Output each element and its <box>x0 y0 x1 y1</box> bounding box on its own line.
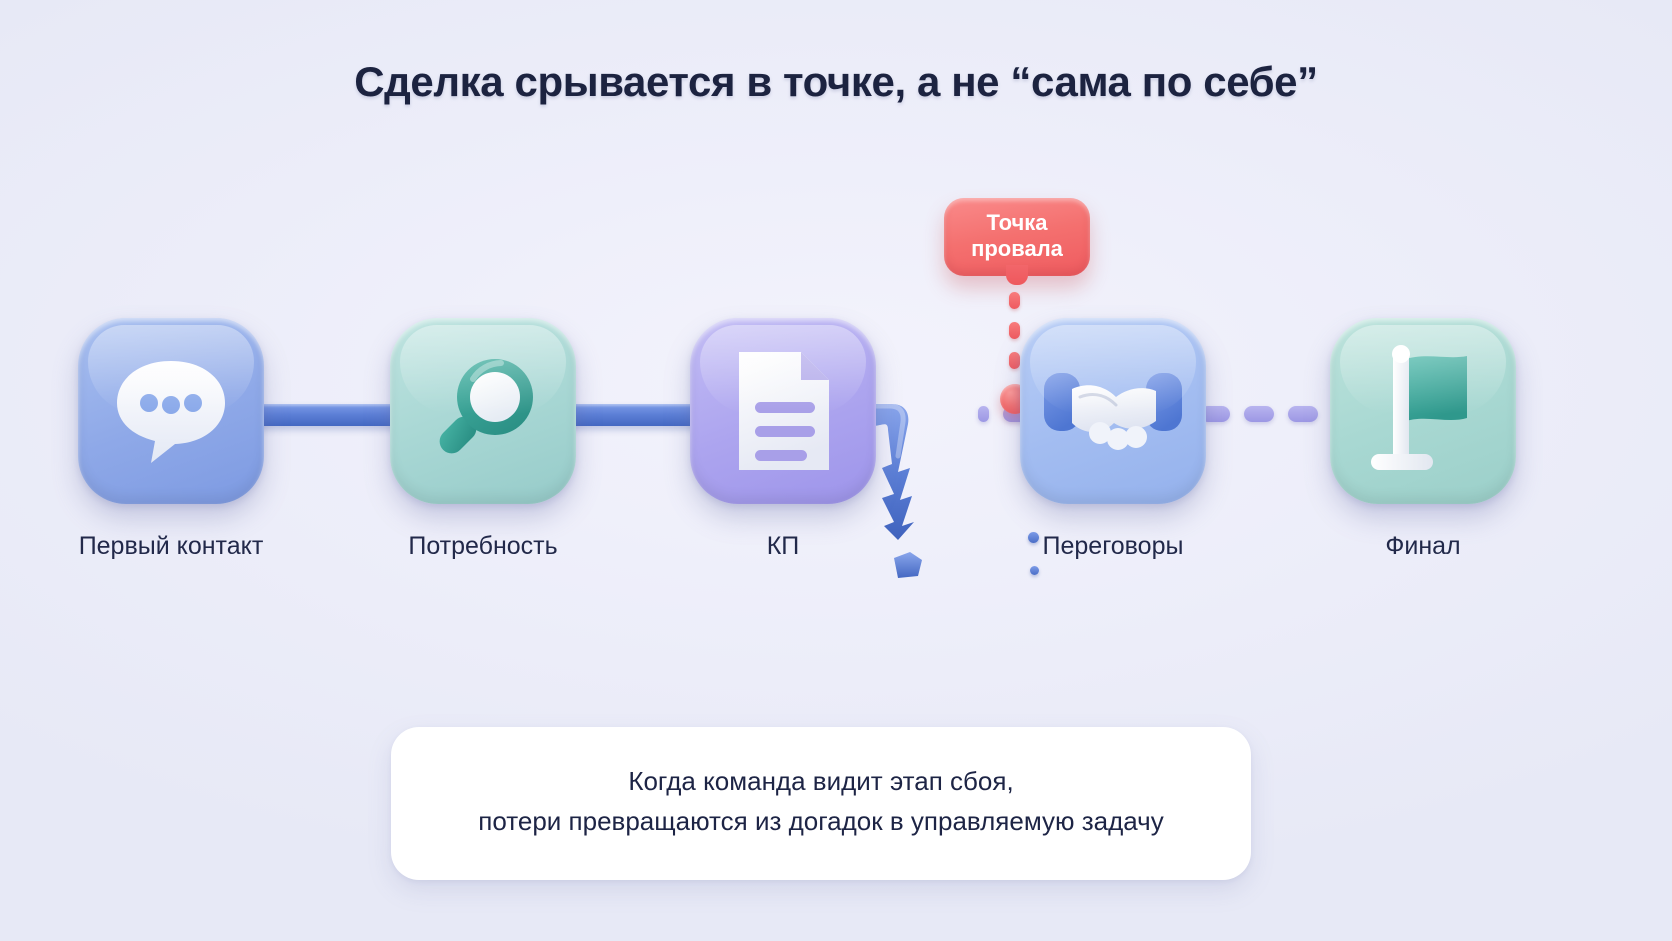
stage-label: Первый контакт <box>78 532 264 561</box>
badge-tail <box>1006 265 1028 285</box>
caption-line-1: Когда команда видит этап сбоя, <box>431 761 1211 801</box>
badge-line-1: Точка <box>954 210 1080 236</box>
stage-tile <box>690 318 876 504</box>
stage-tile <box>1330 318 1516 504</box>
badge-pointer-dash <box>1009 352 1020 369</box>
dash-segment <box>1244 406 1274 422</box>
infographic-canvas: Сделка срывается в точке, а не “сама по … <box>0 0 1672 941</box>
connector-dashed-segment-b <box>1200 405 1328 423</box>
stage-need[interactable]: Потребность <box>390 318 576 561</box>
badge-pointer-dash <box>1009 322 1020 339</box>
chat-bubble-icon <box>111 355 231 467</box>
badge-line-2: провала <box>954 236 1080 262</box>
stage-proposal[interactable]: КП <box>690 318 876 561</box>
stage-first-contact[interactable]: Первый контакт <box>78 318 264 561</box>
stage-tile <box>390 318 576 504</box>
handshake-icon <box>1044 359 1182 463</box>
caption-line-2: потери превращаются из догадок в управля… <box>431 801 1211 841</box>
stage-label: Потребность <box>390 532 576 561</box>
caption-card: Когда команда видит этап сбоя, потери пр… <box>391 727 1251 880</box>
connector-contact-to-need <box>245 404 405 426</box>
stage-final[interactable]: Финал <box>1330 318 1516 561</box>
connector-need-to-proposal <box>552 404 712 426</box>
stage-tile <box>78 318 264 504</box>
flag-icon <box>1363 344 1483 478</box>
page-title: Сделка срывается в точке, а не “сама по … <box>0 58 1672 106</box>
dash-segment <box>1288 406 1318 422</box>
shard-dot-lower <box>1030 566 1039 575</box>
dash-segment <box>978 406 989 422</box>
magnifier-icon <box>421 349 545 473</box>
badge-pointer-dash <box>1009 292 1020 309</box>
stage-label: Финал <box>1330 532 1516 561</box>
document-icon <box>729 344 837 478</box>
stage-tile <box>1020 318 1206 504</box>
stage-negotiation[interactable]: Переговоры <box>1020 318 1206 561</box>
stage-label: КП <box>690 532 876 561</box>
stage-label: Переговоры <box>1020 532 1206 561</box>
failure-point-badge: Точка провала <box>944 198 1090 276</box>
